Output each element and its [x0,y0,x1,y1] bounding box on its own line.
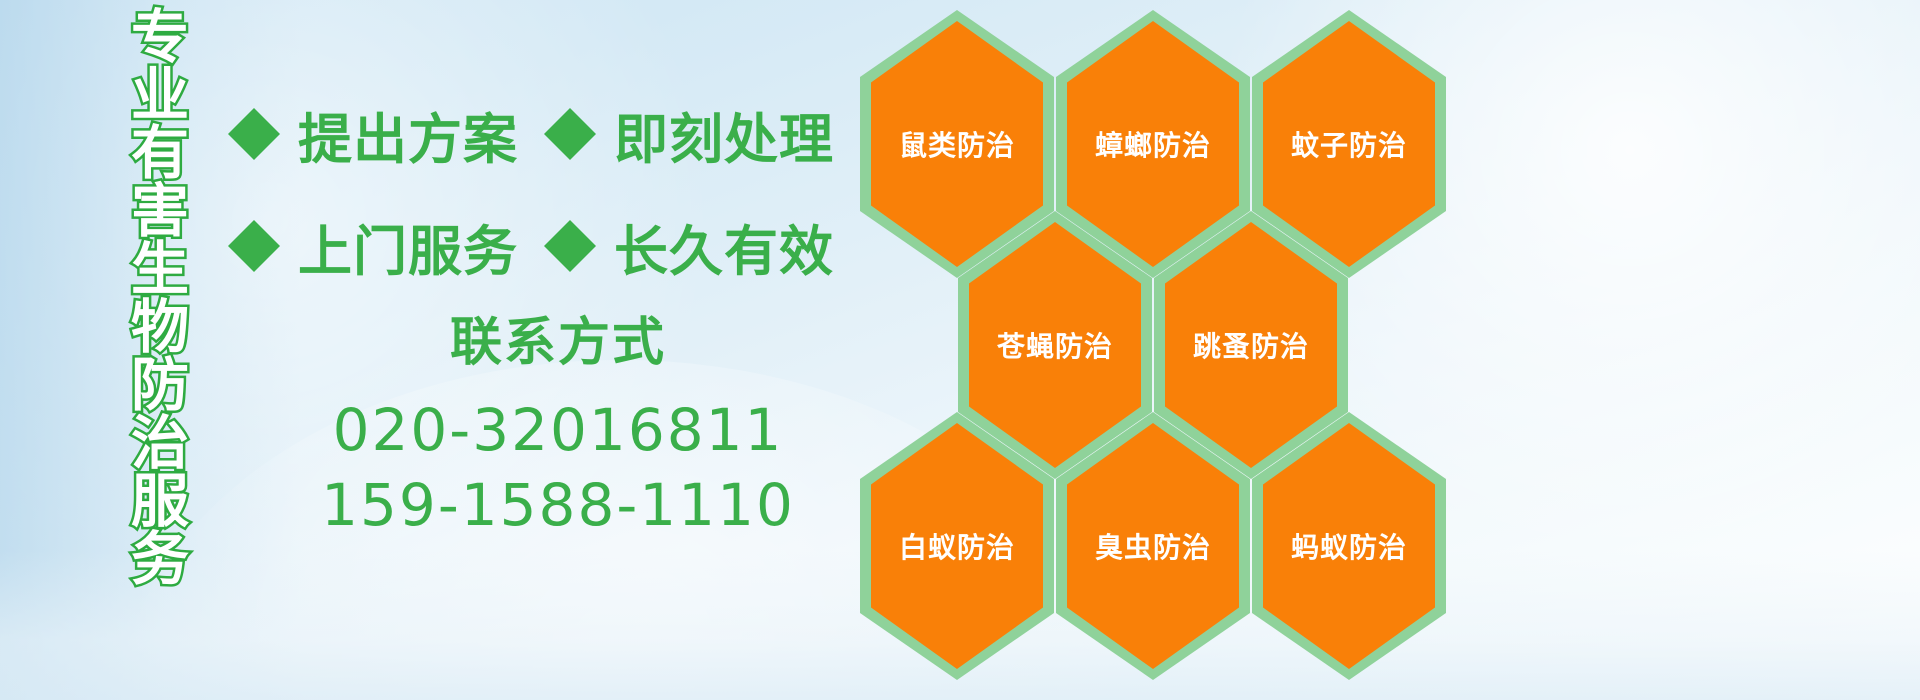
pest-control-banner: 专 业 有 害 生 物 防 治 服 务 提出方案 即刻处理 上门服务 [0,0,1920,700]
service-hex-label: 臭虫防治 [1095,526,1211,566]
vertical-headline: 专 业 有 害 生 物 防 治 服 务 [108,8,212,556]
contact-title: 联系方式 [228,300,888,375]
service-hex-inner: 鼠类防治 [871,21,1043,267]
diamond-bullet-icon [544,194,596,246]
service-hex-label: 鼠类防治 [899,124,1015,164]
feature-item-long-lasting-effect: 长久有效 [544,207,834,286]
service-hex-label: 白蚁防治 [899,526,1015,566]
service-hex-inner: 蟑螂防治 [1067,21,1239,267]
service-hex-label: 蚂蚁防治 [1291,526,1407,566]
service-hex-label: 蚊子防治 [1291,124,1407,164]
feature-item-door-to-door-service: 上门服务 [228,207,518,286]
diamond-bullet-icon [228,82,280,134]
vertical-headline-char: 物 [131,298,189,356]
vertical-headline-char: 防 [131,356,189,414]
vertical-headline-char: 务 [131,530,189,588]
service-hex-label: 蟑螂防治 [1095,124,1211,164]
vertical-headline-char: 生 [131,240,189,298]
service-hex-inner: 蚂蚁防治 [1263,423,1435,669]
feature-item-immediate-handling: 即刻处理 [544,95,834,174]
feature-row: 提出方案 即刻处理 [228,78,868,190]
feature-item-propose-plan: 提出方案 [228,95,518,174]
feature-label: 长久有效 [614,207,834,286]
service-hex-label: 跳蚤防治 [1193,325,1309,365]
feature-list: 提出方案 即刻处理 上门服务 长久有效 [228,78,868,302]
service-hex-inner: 苍蝇防治 [969,222,1141,468]
service-hex-inner: 白蚁防治 [871,423,1043,669]
service-honeycomb: 鼠类防治 蟑螂防治 蚊子防治 苍蝇防治 跳蚤防治 白蚁防治 [860,0,1460,700]
service-hex-inner: 臭虫防治 [1067,423,1239,669]
feature-row: 上门服务 长久有效 [228,190,868,302]
contact-block: 联系方式 020-32016811 159-1588-1110 [228,300,888,544]
contact-phone-mobile[interactable]: 159-1588-1110 [228,468,888,543]
service-hex-inner: 跳蚤防治 [1165,222,1337,468]
vertical-headline-char: 害 [131,182,189,240]
feature-label: 上门服务 [298,207,518,286]
feature-label: 即刻处理 [614,95,834,174]
vertical-headline-char: 服 [131,472,189,530]
vertical-headline-char: 有 [131,124,189,182]
diamond-bullet-icon [228,194,280,246]
service-hex-label: 苍蝇防治 [997,325,1113,365]
feature-label: 提出方案 [298,95,518,174]
service-hex-inner: 蚊子防治 [1263,21,1435,267]
vertical-headline-char: 业 [131,66,189,124]
vertical-headline-char: 专 [131,8,189,66]
diamond-bullet-icon [544,82,596,134]
vertical-headline-char: 治 [131,414,189,472]
contact-phone-landline[interactable]: 020-32016811 [228,393,888,468]
